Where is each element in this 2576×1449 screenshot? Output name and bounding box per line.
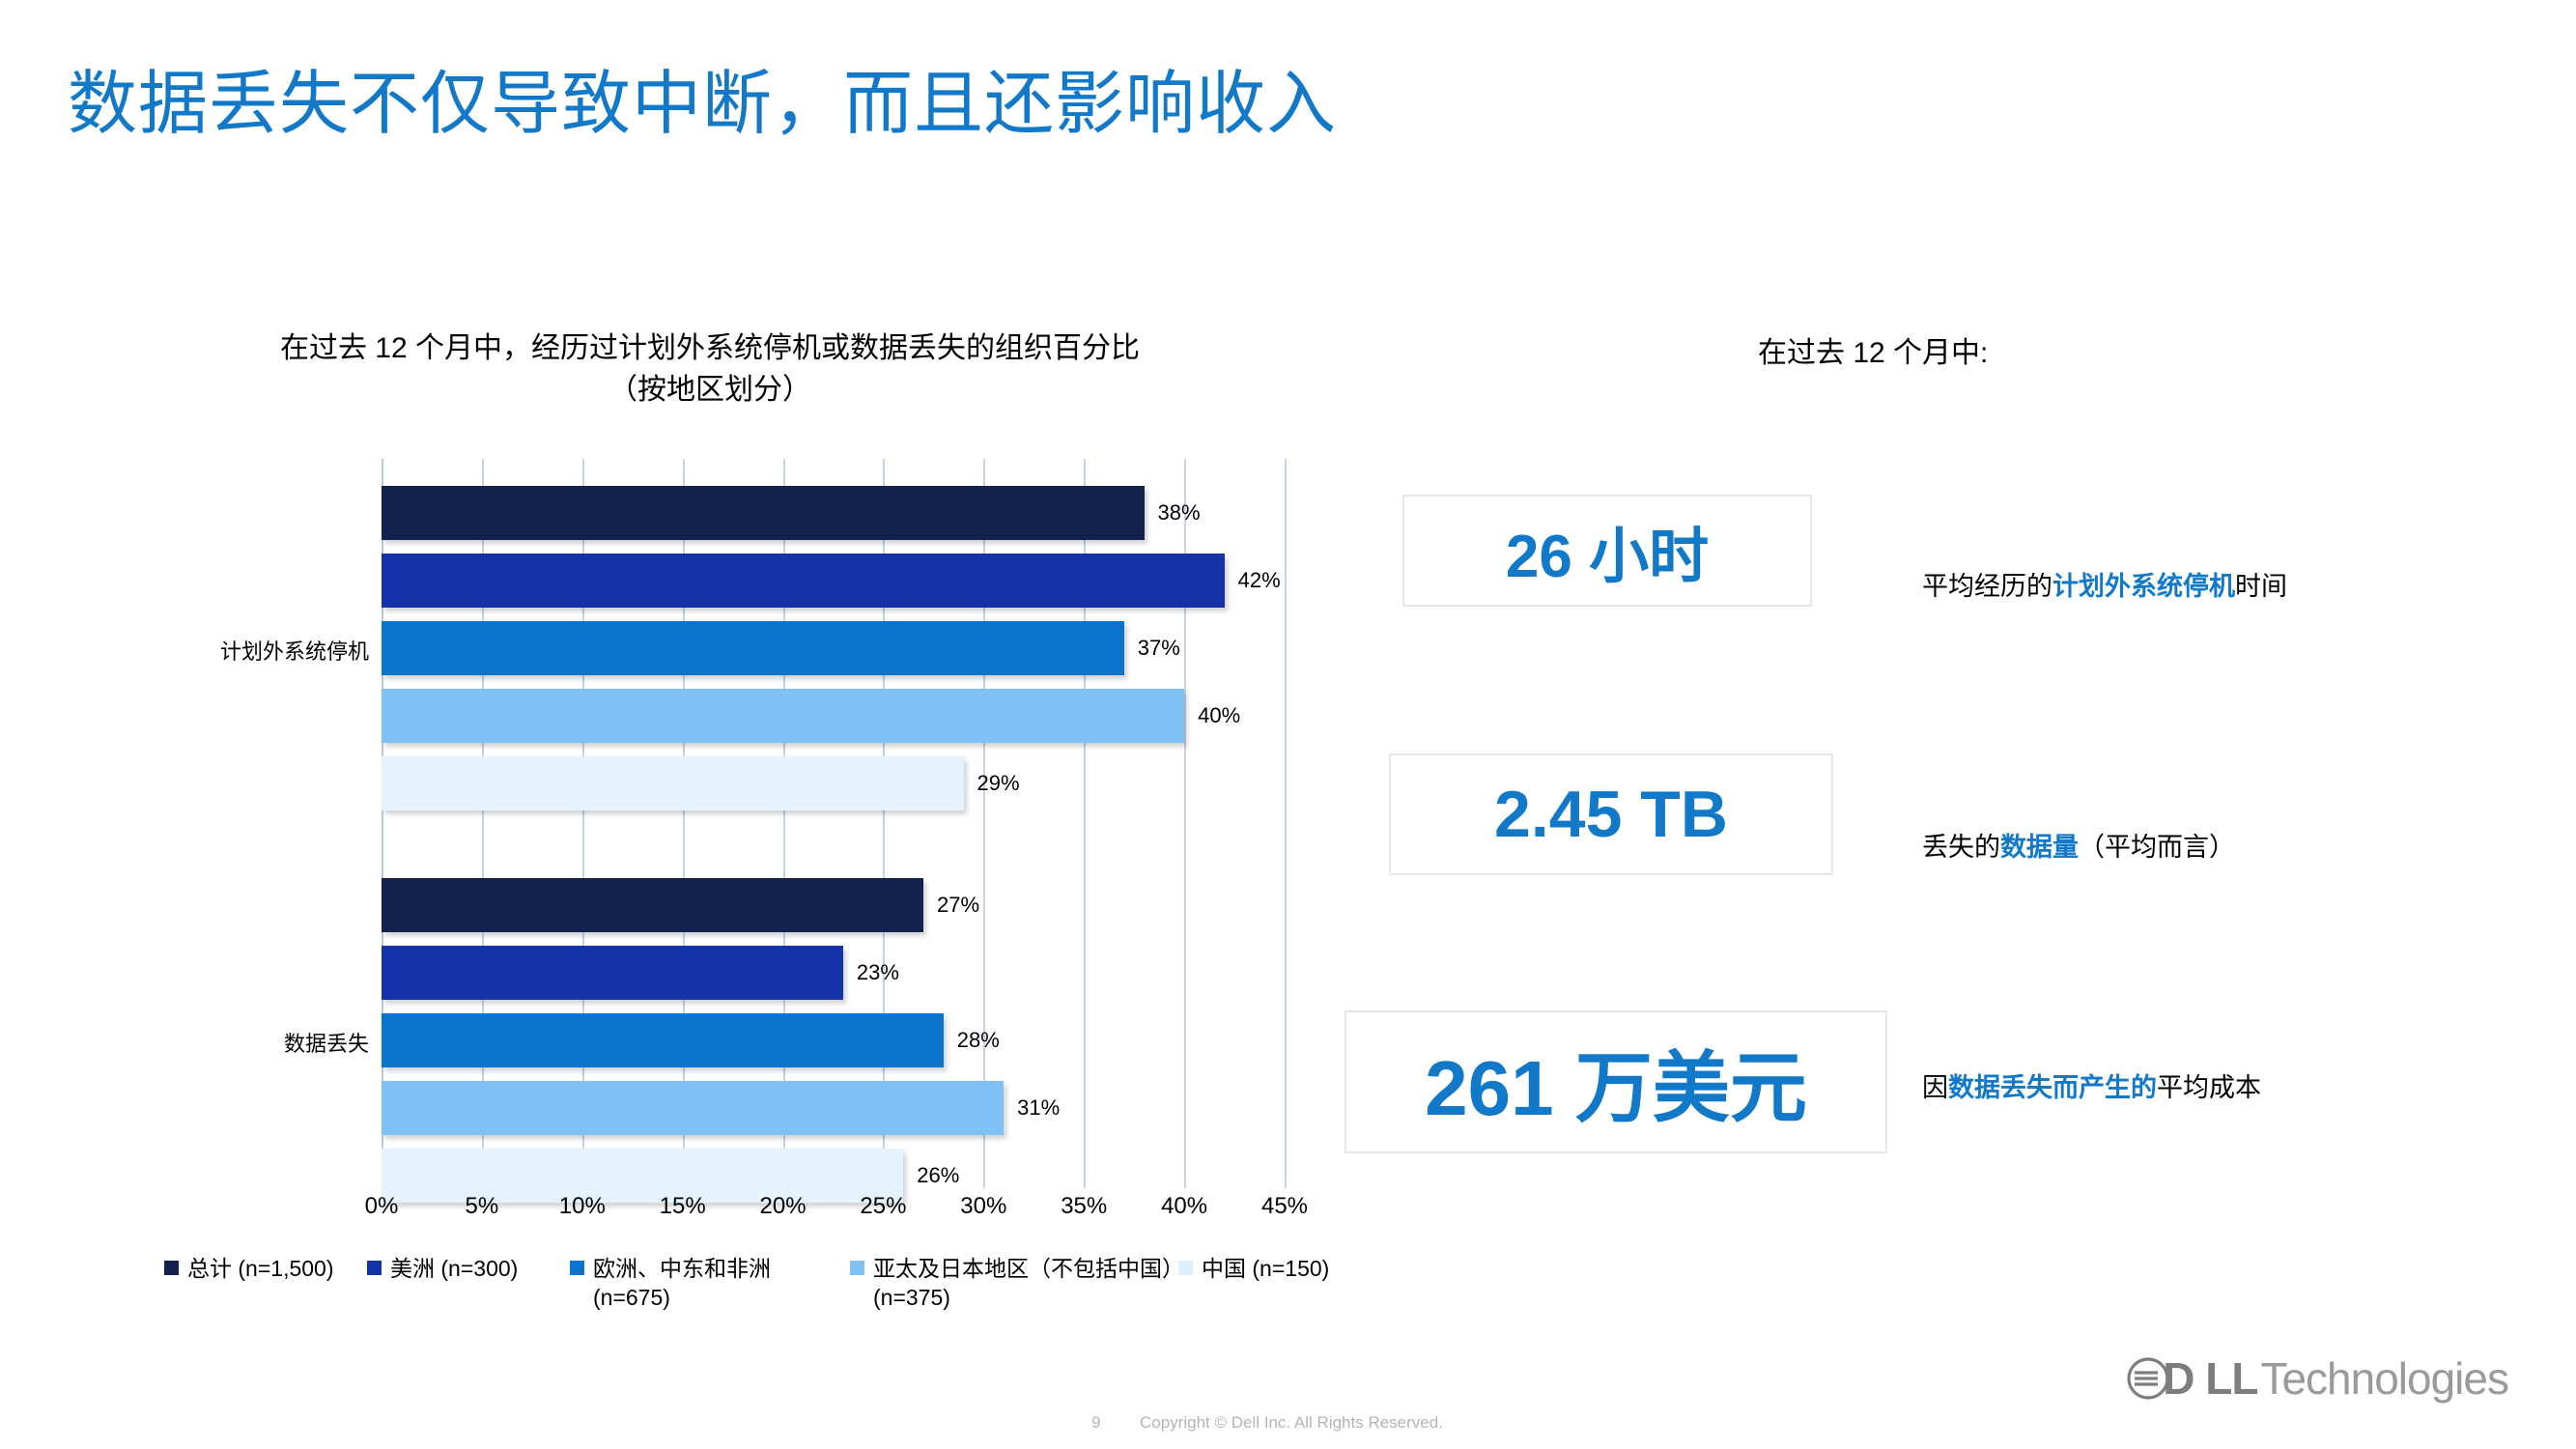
chart-legend: 总计 (n=1,500)美洲 (n=300)欧洲、中东和非洲(n=675)亚太及…	[164, 1254, 1343, 1341]
stat-description: 丢失的数据量（平均而言）	[1922, 826, 2235, 864]
bar-value-label: 27%	[937, 893, 979, 918]
stat-desc-suffix: 平均成本	[2157, 1073, 2261, 1102]
legend-label: 美洲 (n=300)	[390, 1254, 518, 1283]
bar-value-label: 38%	[1158, 500, 1201, 526]
legend-label: 总计 (n=1,500)	[187, 1254, 334, 1283]
dell-technologies-logo: D LL Technologies	[2126, 1352, 2508, 1405]
dell-ring-icon	[2126, 1356, 2170, 1401]
stat-card: 26 小时	[1402, 495, 1812, 607]
chart-caption: 在过去 12 个月中，经历过计划外系统停机或数据丢失的组织百分比 （按地区划分）	[135, 328, 1285, 411]
chart-bar	[382, 486, 1145, 540]
legend-label: 欧洲、中东和非洲(n=675)	[593, 1254, 771, 1313]
chart-bar	[382, 554, 1225, 608]
gridline	[1285, 459, 1287, 1188]
chart-block: 在过去 12 个月中，经历过计划外系统停机或数据丢失的组织百分比 （按地区划分）…	[116, 328, 1314, 1323]
x-axis-tick-label: 25%	[860, 1193, 906, 1220]
bar-row: 37%	[382, 621, 1180, 675]
x-axis-tick-label: 35%	[1061, 1193, 1107, 1220]
legend-item[interactable]: 亚太及日本地区（不包括中国）(n=375)	[850, 1254, 1184, 1313]
bar-row: 38%	[382, 486, 1201, 540]
chart-bar	[382, 1081, 1004, 1135]
stat-card: 2.45 TB	[1389, 753, 1833, 875]
x-axis-tick-label: 30%	[960, 1193, 1006, 1220]
stat-value: 2.45 TB	[1494, 777, 1728, 852]
dell-wordmark: D LL	[2163, 1352, 2257, 1405]
x-axis-tick-label: 0%	[365, 1193, 399, 1220]
bar-value-label: 40%	[1198, 703, 1240, 728]
legend-item[interactable]: 中国 (n=150)	[1178, 1254, 1329, 1283]
x-axis-tick-label: 45%	[1261, 1193, 1308, 1220]
category-label: 计划外系统停机	[220, 635, 369, 666]
x-axis-ticks: 0%5%10%15%20%25%30%35%40%45%	[382, 1193, 1285, 1232]
bar-value-label: 28%	[957, 1028, 1000, 1053]
bar-row: 28%	[382, 1013, 1000, 1067]
bar-row: 40%	[382, 689, 1240, 743]
chart-bar	[382, 621, 1124, 675]
stat-description: 平均经历的计划外系统停机时间	[1922, 565, 2287, 603]
copyright-notice: Copyright © Dell Inc. All Rights Reserve…	[1140, 1413, 1443, 1433]
bar-row: 23%	[382, 946, 899, 1000]
stat-value: 261 万美元	[1425, 1026, 1807, 1138]
legend-swatch	[367, 1261, 382, 1275]
bar-value-label: 31%	[1017, 1095, 1060, 1121]
x-axis-tick-label: 15%	[660, 1193, 706, 1220]
chart-plot-wrapper: 计划外系统停机数据丢失 38%42%37%40%29%27%23%28%31%2…	[116, 459, 1314, 1222]
chart-bar	[382, 946, 843, 1000]
chart-plot-area: 38%42%37%40%29%27%23%28%31%26%	[382, 459, 1285, 1188]
page-title: 数据丢失不仅导致中断，而且还影响收入	[68, 46, 1337, 148]
stat-value: 26 小时	[1506, 507, 1709, 594]
x-axis-tick-label: 20%	[760, 1193, 807, 1220]
legend-swatch	[570, 1261, 584, 1275]
stat-desc-prefix: 平均经历的	[1922, 572, 2052, 601]
bar-row: 31%	[382, 1081, 1060, 1135]
stat-card: 261 万美元	[1345, 1010, 1887, 1153]
legend-item[interactable]: 美洲 (n=300)	[367, 1254, 518, 1283]
page-number: 9	[1091, 1413, 1100, 1433]
stat-desc-prefix: 丢失的	[1922, 833, 2000, 862]
bar-value-label: 26%	[917, 1163, 959, 1188]
stat-desc-highlight: 计划外系统停机	[2052, 572, 2235, 601]
stat-desc-highlight: 数据量	[2000, 833, 2079, 862]
x-axis-tick-label: 5%	[466, 1193, 499, 1220]
legend-swatch	[164, 1261, 179, 1275]
x-axis-tick-label: 10%	[559, 1193, 606, 1220]
stat-description: 因数据丢失而产生的平均成本	[1922, 1066, 2261, 1104]
chart-bar	[382, 1013, 944, 1067]
right-panel-caption: 在过去 12 个月中:	[1758, 328, 2531, 371]
right-panel: 在过去 12 个月中:	[1758, 328, 2531, 371]
category-label: 数据丢失	[284, 1027, 369, 1058]
stat-desc-prefix: 因	[1922, 1073, 1948, 1102]
category-label-holder: 计划外系统停机数据丢失	[116, 459, 369, 1188]
stat-desc-highlight: 数据丢失而产生的	[1948, 1073, 2157, 1102]
chart-bar	[382, 878, 923, 932]
bar-value-label: 23%	[857, 960, 899, 985]
bar-value-label: 42%	[1238, 568, 1281, 593]
chart-caption-line-2: （按地区划分）	[135, 370, 1285, 412]
chart-bar	[382, 756, 964, 810]
legend-swatch	[850, 1261, 864, 1275]
bar-value-label: 37%	[1138, 636, 1180, 661]
chart-caption-line-1: 在过去 12 个月中，经历过计划外系统停机或数据丢失的组织百分比	[135, 328, 1285, 370]
bar-value-label: 29%	[977, 771, 1020, 796]
chart-bar	[382, 689, 1184, 743]
bar-row: 27%	[382, 878, 979, 932]
x-axis-tick-label: 40%	[1161, 1193, 1207, 1220]
bar-row: 29%	[382, 756, 1020, 810]
stat-desc-suffix: （平均而言）	[2079, 833, 2235, 862]
legend-item[interactable]: 欧洲、中东和非洲(n=675)	[570, 1254, 771, 1313]
slide-root: 数据丢失不仅导致中断，而且还影响收入 在过去 12 个月中，经历过计划外系统停机…	[0, 0, 2576, 1449]
technologies-wordmark: Technologies	[2260, 1352, 2508, 1405]
stat-desc-suffix: 时间	[2235, 572, 2287, 601]
legend-label: 中国 (n=150)	[1202, 1254, 1329, 1283]
legend-label: 亚太及日本地区（不包括中国）(n=375)	[873, 1254, 1184, 1313]
bar-row: 42%	[382, 554, 1281, 608]
legend-swatch	[1178, 1261, 1193, 1275]
legend-item[interactable]: 总计 (n=1,500)	[164, 1254, 334, 1283]
